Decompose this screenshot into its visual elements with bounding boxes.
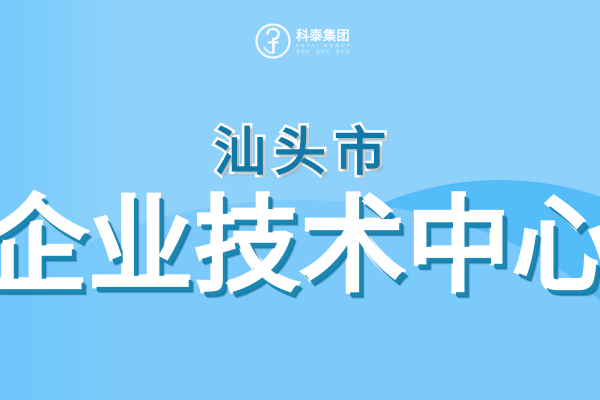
- promo-banner: 科泰集团 KETAI GROUP 多合作 · 多技术 · 多公司 汕头市 企业技…: [0, 0, 600, 400]
- headline-block: 汕头市 企业技术中心: [0, 0, 600, 400]
- banner-title: 企业技术中心: [0, 195, 600, 299]
- banner-subtitle: 汕头市: [206, 127, 394, 179]
